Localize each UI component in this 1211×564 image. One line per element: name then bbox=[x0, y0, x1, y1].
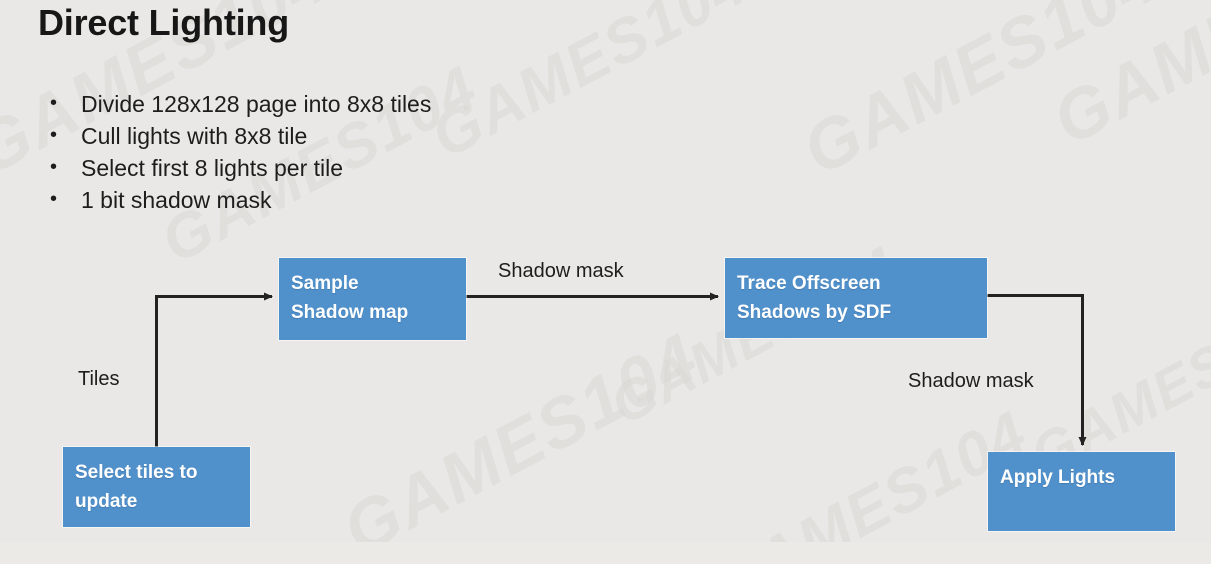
diagram-node-trace-offscreen-shadows[interactable]: Trace Offscreen Shadows by SDF bbox=[725, 258, 987, 338]
node-line-2: update bbox=[75, 487, 250, 516]
node-line-1: Sample bbox=[291, 269, 466, 298]
node-line-1: Trace Offscreen bbox=[737, 269, 987, 298]
edge-label-shadow-mask-top: Shadow mask bbox=[498, 260, 624, 283]
diagram-node-apply-lights[interactable]: Apply Lights bbox=[988, 452, 1175, 531]
node-line-1: Apply Lights bbox=[1000, 463, 1175, 492]
edge-label-shadow-mask-right: Shadow mask bbox=[908, 370, 1034, 393]
diagram-node-select-tiles[interactable]: Select tiles to update bbox=[63, 447, 250, 527]
edge-label-tiles: Tiles bbox=[78, 368, 119, 391]
diagram-node-sample-shadow-map[interactable]: Sample Shadow map bbox=[279, 258, 466, 340]
flow-diagram: Sample Shadow map Trace Offscreen Shadow… bbox=[0, 0, 1211, 564]
node-line-2: Shadows by SDF bbox=[737, 298, 987, 327]
connector-select-tiles-to-sample bbox=[157, 297, 273, 448]
node-line-1: Select tiles to bbox=[75, 458, 250, 487]
node-line-2: Shadow map bbox=[291, 298, 466, 327]
slide-canvas: GAMES104 GAMES104 GAMES104 GAMES104 GAME… bbox=[0, 0, 1211, 564]
